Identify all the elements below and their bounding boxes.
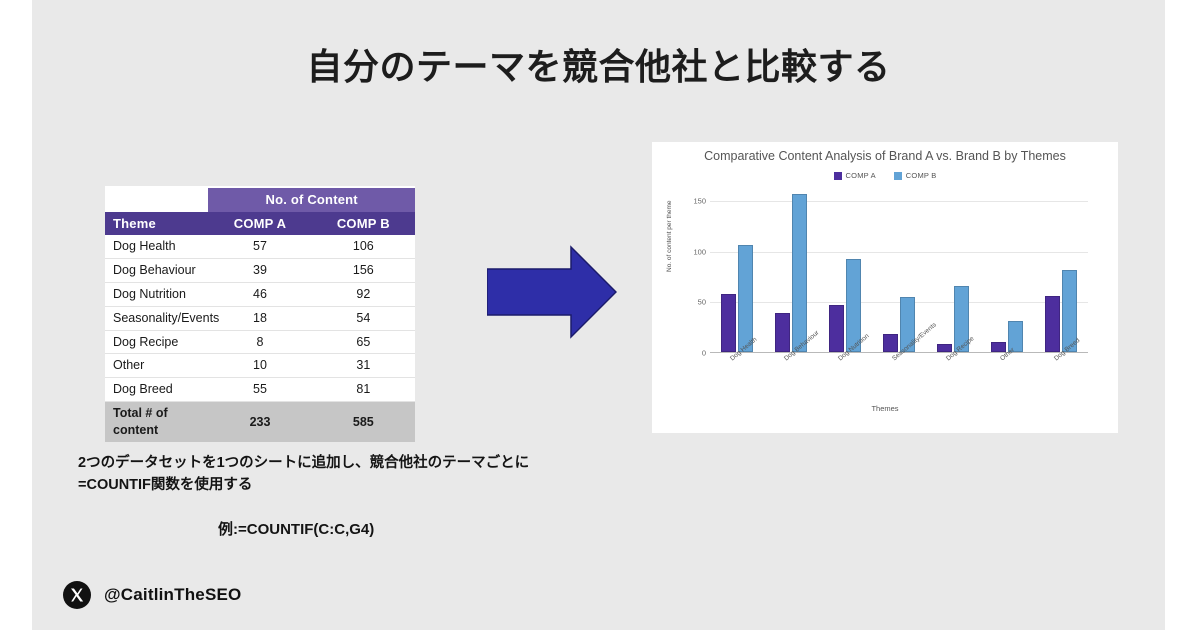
cell-comp-a: 18 bbox=[208, 306, 311, 330]
cell-theme: Other bbox=[105, 354, 208, 378]
cell-comp-b: 81 bbox=[312, 378, 415, 402]
cell-theme: Seasonality/Events bbox=[105, 306, 208, 330]
chart-y-tick-label: 50 bbox=[698, 298, 706, 307]
chart-bar[interactable] bbox=[738, 245, 753, 352]
slide-canvas: 自分のテーマを競合他社と比較する No. of Content Theme CO… bbox=[32, 0, 1165, 630]
table-row: Dog Nutrition4692 bbox=[105, 282, 415, 306]
chart-bar-group bbox=[1045, 190, 1077, 352]
content-table-container: No. of Content Theme COMP A COMP B Dog H… bbox=[105, 186, 415, 442]
legend-swatch-icon bbox=[894, 172, 902, 180]
cell-comp-a: 55 bbox=[208, 378, 311, 402]
cell-comp-a: 8 bbox=[208, 330, 311, 354]
cell-comp-b: 156 bbox=[312, 258, 415, 282]
chart-bar[interactable] bbox=[991, 342, 1006, 352]
total-comp-b: 585 bbox=[312, 402, 415, 442]
total-comp-a: 233 bbox=[208, 402, 311, 442]
chart-bar-group bbox=[991, 190, 1023, 352]
chart-x-axis-label: Themes bbox=[652, 404, 1118, 413]
chart-bar[interactable] bbox=[937, 344, 952, 352]
column-header-theme[interactable]: Theme bbox=[105, 212, 208, 236]
chart-bars bbox=[710, 190, 1088, 352]
cell-comp-a: 57 bbox=[208, 235, 311, 258]
header-blank-cell bbox=[105, 188, 208, 212]
x-logo-icon[interactable] bbox=[60, 578, 94, 612]
cell-comp-a: 39 bbox=[208, 258, 311, 282]
table-row: Dog Behaviour39156 bbox=[105, 258, 415, 282]
cell-theme: Dog Nutrition bbox=[105, 282, 208, 306]
cell-comp-b: 106 bbox=[312, 235, 415, 258]
table-body: Dog Health57106Dog Behaviour39156Dog Nut… bbox=[105, 235, 415, 402]
content-table: No. of Content Theme COMP A COMP B Dog H… bbox=[105, 188, 415, 442]
legend-item-comp-a[interactable]: COMP A bbox=[834, 171, 876, 180]
chart-panel: Comparative Content Analysis of Brand A … bbox=[652, 142, 1118, 433]
footer-handle: @CaitlinTheSEO bbox=[60, 578, 241, 612]
table-row: Dog Recipe865 bbox=[105, 330, 415, 354]
chart-legend: COMP A COMP B bbox=[652, 171, 1118, 180]
cell-comp-b: 92 bbox=[312, 282, 415, 306]
chart-x-tick-labels: Dog HealthDog BehaviourDog NutritionSeas… bbox=[710, 355, 1088, 400]
handle-text: @CaitlinTheSEO bbox=[104, 585, 241, 605]
chart-bar[interactable] bbox=[883, 334, 898, 352]
table-header-column-row: Theme COMP A COMP B bbox=[105, 212, 415, 236]
table-header-group-row: No. of Content bbox=[105, 188, 415, 212]
chart-bar-group bbox=[883, 190, 915, 352]
page-title: 自分のテーマを競合他社と比較する bbox=[32, 44, 1165, 89]
table-header: No. of Content Theme COMP A COMP B bbox=[105, 188, 415, 235]
legend-item-comp-b[interactable]: COMP B bbox=[894, 171, 937, 180]
chart-bar-group bbox=[937, 190, 969, 352]
chart-y-tick-label: 0 bbox=[702, 349, 706, 358]
chart-bar-group bbox=[775, 190, 807, 352]
cell-theme: Dog Recipe bbox=[105, 330, 208, 354]
chart-bar[interactable] bbox=[792, 194, 807, 352]
table-row: Dog Health57106 bbox=[105, 235, 415, 258]
column-header-comp-b[interactable]: COMP B bbox=[312, 212, 415, 236]
chart-bar[interactable] bbox=[721, 294, 736, 352]
right-arrow-icon bbox=[487, 245, 617, 340]
column-header-comp-a[interactable]: COMP A bbox=[208, 212, 311, 236]
cell-theme: Dog Health bbox=[105, 235, 208, 258]
total-label: Total # of content bbox=[105, 402, 208, 442]
formula-example: 例:=COUNTIF(C:C,G4) bbox=[218, 518, 374, 539]
legend-swatch-icon bbox=[834, 172, 842, 180]
table-row: Seasonality/Events1854 bbox=[105, 306, 415, 330]
chart-plot-area: 050100150 bbox=[710, 190, 1088, 353]
table-total-row: Total # of content 233 585 bbox=[105, 402, 415, 442]
header-group-label: No. of Content bbox=[208, 188, 415, 212]
cell-theme: Dog Behaviour bbox=[105, 258, 208, 282]
chart-y-axis-label: No. of content per theme bbox=[666, 200, 673, 272]
chart-title: Comparative Content Analysis of Brand A … bbox=[652, 149, 1118, 163]
cell-comp-b: 65 bbox=[312, 330, 415, 354]
chart-bar[interactable] bbox=[829, 305, 844, 352]
chart-y-tick-label: 150 bbox=[693, 197, 706, 206]
cell-theme: Dog Breed bbox=[105, 378, 208, 402]
chart-bar-group bbox=[829, 190, 861, 352]
body-text: 2つのデータセットを1つのシートに追加し、競合他社のテーマごとに =COUNTI… bbox=[78, 452, 718, 497]
table-row: Other1031 bbox=[105, 354, 415, 378]
cell-comp-b: 54 bbox=[312, 306, 415, 330]
legend-label-comp-a: COMP A bbox=[846, 171, 876, 180]
table-row: Dog Breed5581 bbox=[105, 378, 415, 402]
legend-label-comp-b: COMP B bbox=[906, 171, 937, 180]
body-text-line-1: 2つのデータセットを1つのシートに追加し、競合他社のテーマごとに bbox=[78, 452, 718, 474]
chart-bar-group bbox=[721, 190, 753, 352]
cell-comp-a: 10 bbox=[208, 354, 311, 378]
chart-y-tick-label: 100 bbox=[693, 247, 706, 256]
cell-comp-a: 46 bbox=[208, 282, 311, 306]
chart-bar[interactable] bbox=[1045, 296, 1060, 352]
chart-bar[interactable] bbox=[775, 313, 790, 352]
body-text-line-2: =COUNTIF関数を使用する bbox=[78, 474, 718, 496]
cell-comp-b: 31 bbox=[312, 354, 415, 378]
table-footer: Total # of content 233 585 bbox=[105, 402, 415, 442]
